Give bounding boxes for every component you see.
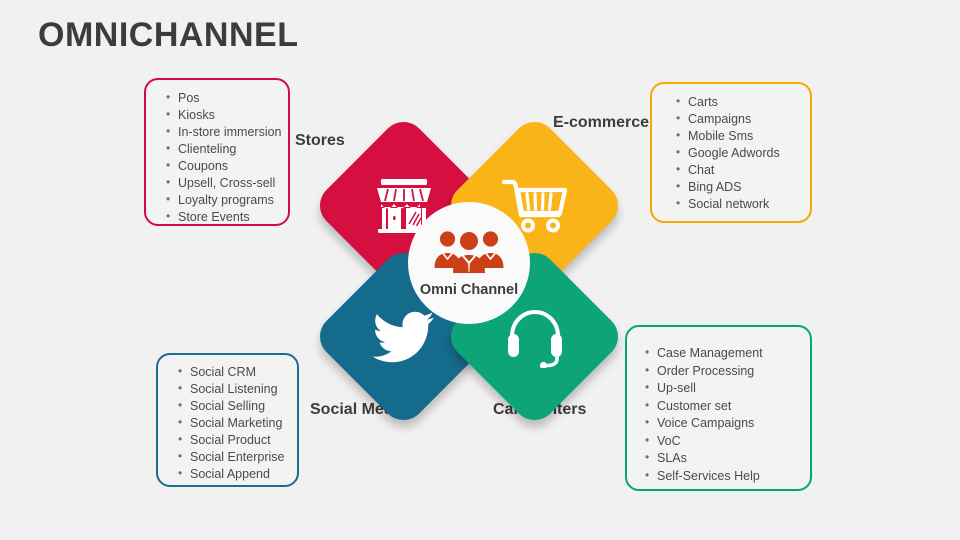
list-item: SLAs — [643, 450, 810, 468]
list-item: Social network — [674, 196, 810, 213]
hub-label: Omni Channel — [420, 282, 518, 298]
list-item: Up-sell — [643, 380, 810, 398]
list-item: Chat — [674, 162, 810, 179]
list-item: Social Enterprise — [176, 449, 297, 466]
list-item: Order Processing — [643, 363, 810, 381]
list-item: Google Adwords — [674, 145, 810, 162]
list-item: Self-Services Help — [643, 468, 810, 486]
list-item: Loyalty programs — [164, 192, 288, 209]
list-item: Social CRM — [176, 364, 297, 381]
social-media-items-box: Social CRMSocial ListeningSocial Selling… — [156, 353, 299, 487]
list-item: Social Append — [176, 466, 297, 483]
list-item: Coupons — [164, 158, 288, 175]
list-item: Customer set — [643, 398, 810, 416]
social-media-items-list: Social CRMSocial ListeningSocial Selling… — [158, 355, 297, 483]
list-item: Campaigns — [674, 111, 810, 128]
stores-items-box: PosKiosksIn-store immersionClientelingCo… — [144, 78, 290, 226]
list-item: Pos — [164, 90, 288, 107]
list-item: Social Selling — [176, 398, 297, 415]
list-item: Kiosks — [164, 107, 288, 124]
stores-items-list: PosKiosksIn-store immersionClientelingCo… — [146, 80, 288, 226]
list-item: Mobile Sms — [674, 128, 810, 145]
list-item: VoC — [643, 433, 810, 451]
page-title: OMNICHANNEL — [38, 16, 298, 55]
call-centers-items-box: Case ManagementOrder ProcessingUp-sellCu… — [625, 325, 812, 491]
list-item: In-store immersion — [164, 124, 288, 141]
omnichannel-diagram: Omni Channel — [330, 138, 608, 406]
call-centers-items-list: Case ManagementOrder ProcessingUp-sellCu… — [627, 327, 810, 485]
list-item: Voice Campaigns — [643, 415, 810, 433]
list-item: Social Listening — [176, 381, 297, 398]
ecommerce-items-box: CartsCampaignsMobile SmsGoogle AdwordsCh… — [650, 82, 812, 223]
list-item: Carts — [674, 94, 810, 111]
list-item: Case Management — [643, 345, 810, 363]
people-group-icon — [432, 228, 506, 279]
list-item: Bing ADS — [674, 179, 810, 196]
list-item: Clienteling — [164, 141, 288, 158]
list-item: Social Marketing — [176, 415, 297, 432]
channel-label-ecommerce: E-commerce — [553, 114, 649, 132]
omni-channel-hub[interactable]: Omni Channel — [408, 202, 530, 324]
ecommerce-items-list: CartsCampaignsMobile SmsGoogle AdwordsCh… — [652, 84, 810, 213]
list-item: Upsell, Cross-sell — [164, 175, 288, 192]
list-item: Social Product — [176, 432, 297, 449]
slide-canvas: OMNICHANNEL PosKiosksIn-store immersionC… — [0, 0, 960, 540]
list-item: Store Events — [164, 209, 288, 226]
